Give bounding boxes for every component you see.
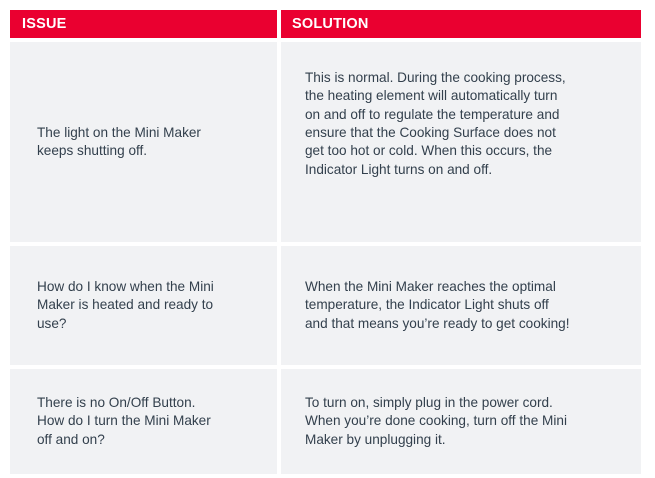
troubleshooting-table: ISSUE SOLUTION The light on the Mini Mak… [10, 10, 641, 470]
table-row: How do I know when the Mini Maker is hea… [10, 246, 641, 365]
solution-cell: When the Mini Maker reaches the optimal … [281, 246, 641, 365]
column-header-issue-label: ISSUE [22, 17, 67, 32]
column-header-solution-label: SOLUTION [292, 17, 369, 32]
table-row: The light on the Mini Maker keeps shutti… [10, 42, 641, 242]
column-header-issue: ISSUE [10, 10, 277, 38]
issue-cell: There is no On/Off Button. How do I turn… [10, 369, 277, 474]
column-header-solution: SOLUTION [281, 10, 641, 38]
solution-cell: To turn on, simply plug in the power cor… [281, 369, 641, 474]
table-header-row: ISSUE SOLUTION [10, 10, 641, 38]
troubleshooting-page: ISSUE SOLUTION The light on the Mini Mak… [0, 0, 655, 478]
issue-text: The light on the Mini Maker keeps shutti… [37, 124, 263, 161]
solution-text: This is normal. During the cooking proce… [305, 69, 623, 179]
issue-text: How do I know when the Mini Maker is hea… [37, 278, 263, 333]
solution-text: When the Mini Maker reaches the optimal … [305, 278, 623, 333]
issue-text: There is no On/Off Button. How do I turn… [37, 394, 263, 449]
issue-cell: How do I know when the Mini Maker is hea… [10, 246, 277, 365]
solution-text: To turn on, simply plug in the power cor… [305, 394, 623, 449]
issue-cell: The light on the Mini Maker keeps shutti… [10, 42, 277, 242]
solution-cell: This is normal. During the cooking proce… [281, 42, 641, 242]
table-body: The light on the Mini Maker keeps shutti… [10, 42, 641, 474]
table-row: There is no On/Off Button. How do I turn… [10, 369, 641, 474]
